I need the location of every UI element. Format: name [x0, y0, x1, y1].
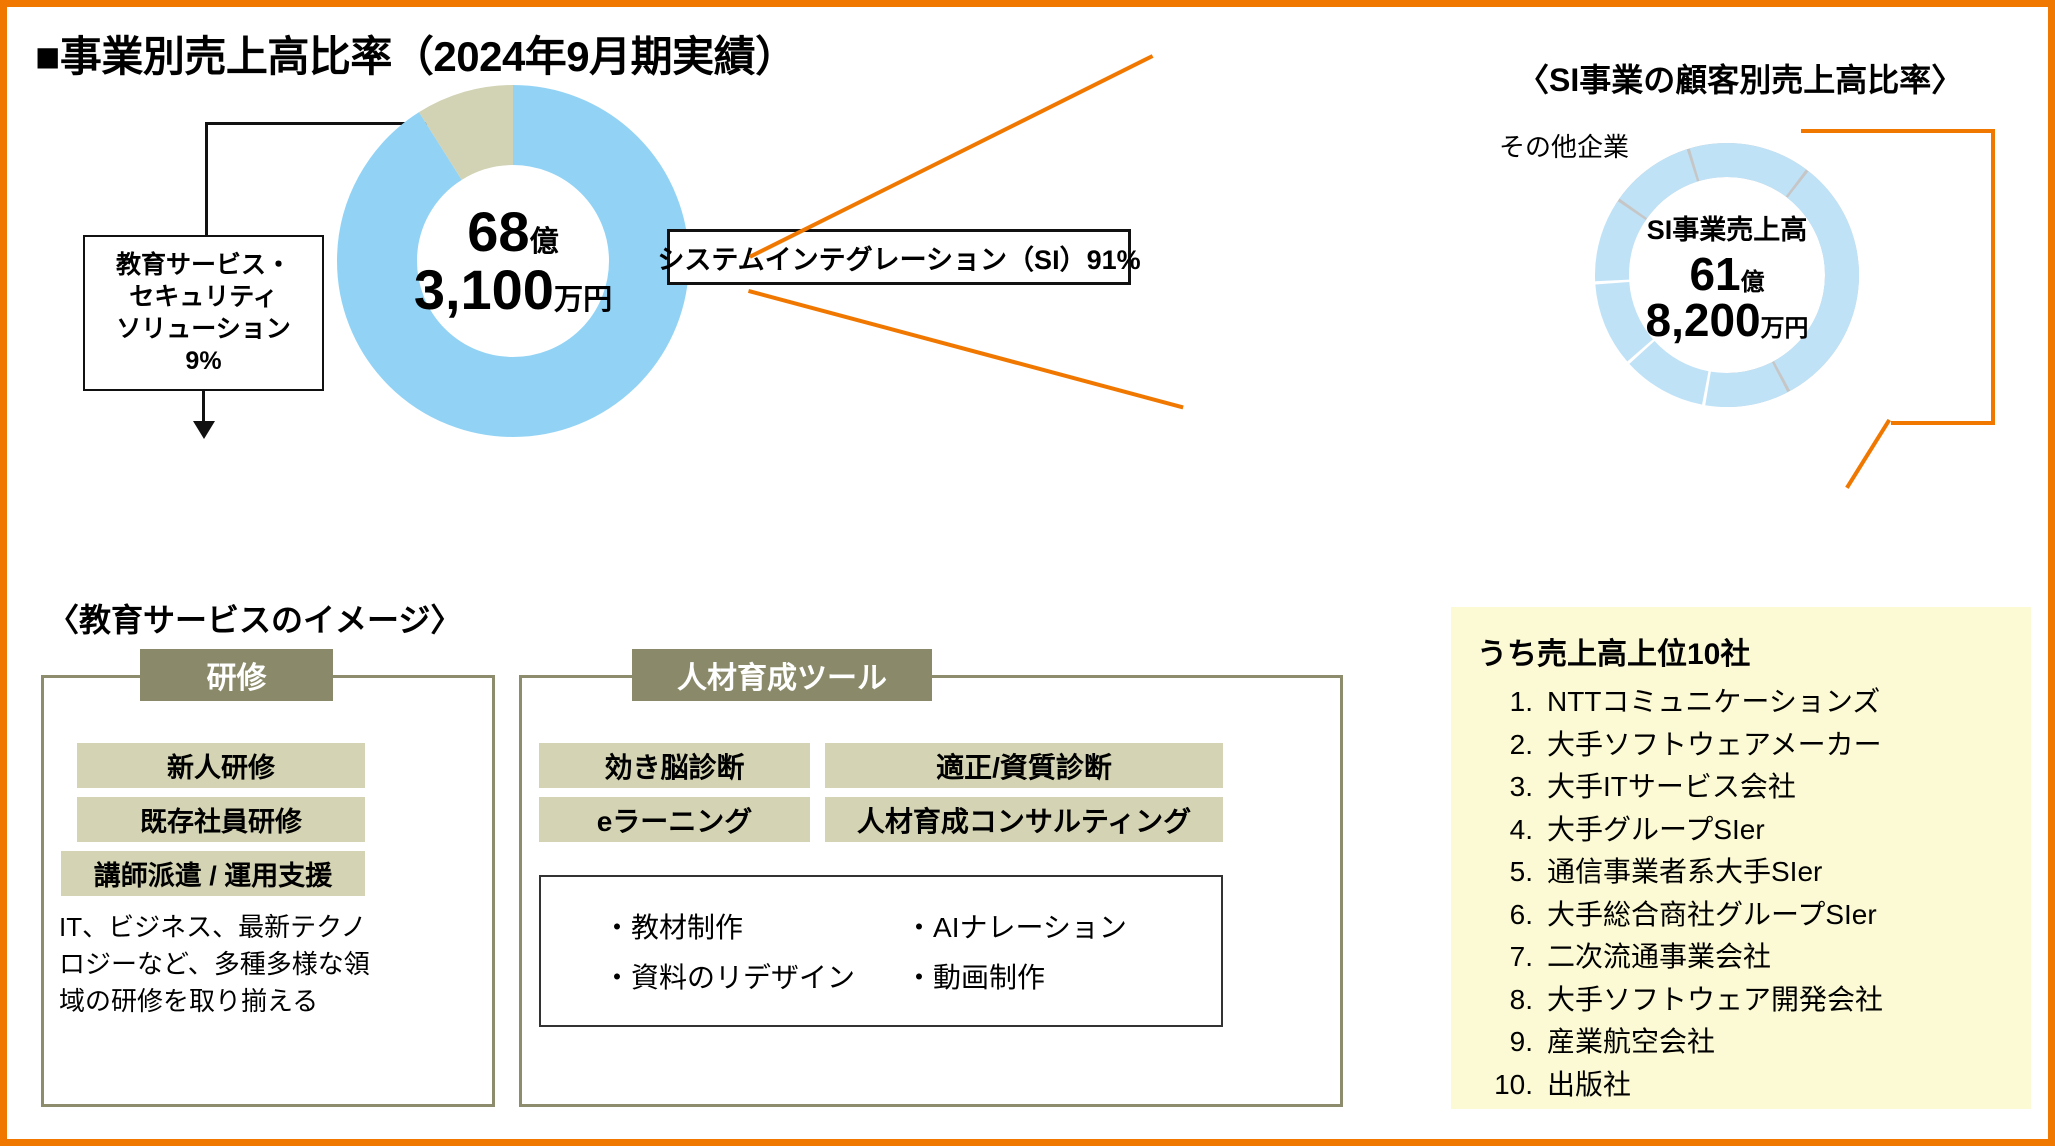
training-panel-header: 研修 [140, 649, 333, 701]
tool-chip-aptitude-diagnosis: 適正/資質診断 [825, 743, 1223, 788]
tool-bullets-right: ・AIナレーション ・動画制作 [905, 906, 1127, 996]
education-service-callout: 教育サービス・ セキュリティ ソリューション 9% [83, 235, 324, 391]
donut-left-svg [337, 85, 689, 437]
si-customer-ratio-donut-chart: SI事業売上高 61億 8,200万円 [1577, 125, 1877, 425]
tool-chip-elearning: eラーニング [539, 797, 810, 842]
training-chip-existing-employee: 既存社員研修 [77, 797, 365, 842]
list-item: 2.大手ソフトウェアメーカー [1477, 724, 2005, 767]
training-chip-new-employee: 新人研修 [77, 743, 365, 788]
list-item-rank: 9. [1477, 1021, 1533, 1064]
edu-arrow-head-icon [193, 421, 215, 439]
si-section-title: 〈SI事業の顧客別売上高比率〉 [1517, 55, 1963, 101]
tool-services-box: ・教材制作 ・資料のリデザイン ・AIナレーション ・動画制作 [539, 875, 1223, 1027]
tool-bullet-document-redesign: ・資料のリデザイン [603, 956, 855, 996]
list-item-label: 大手グループSIer [1547, 809, 1765, 852]
list-item-label: 大手ソフトウェアメーカー [1547, 724, 1882, 767]
list-item-rank: 2. [1477, 724, 1533, 767]
bracket-right [1991, 129, 1995, 425]
list-item: 7.二次流通事業会社 [1477, 936, 2005, 979]
connector-line-bottom [748, 289, 1184, 409]
bracket-diagonal [1845, 419, 1891, 489]
page-title: ■事業別売上高比率（2024年9月期実績） [35, 23, 797, 84]
list-item: 1.NTTコミュニケーションズ [1477, 681, 2005, 724]
list-item: 3.大手ITサービス会社 [1477, 766, 2005, 809]
tool-bullet-video-production: ・動画制作 [905, 956, 1127, 996]
bracket-bottom [1891, 421, 1995, 425]
business-ratio-donut-chart: 68億 3,100万円 [337, 85, 689, 437]
list-item-label: 大手総合商社グループSIer [1547, 894, 1877, 937]
list-item: 5.通信事業者系大手SIer [1477, 851, 2005, 894]
list-item-rank: 6. [1477, 894, 1533, 937]
tool-bullet-material-production: ・教材制作 [603, 906, 855, 946]
top10-title: うち売上高上位10社 [1477, 629, 2005, 673]
list-item-label: 通信事業者系大手SIer [1547, 851, 1822, 894]
list-item: 9.産業航空会社 [1477, 1021, 2005, 1064]
education-section-title: 〈教育サービスのイメージ〉 [47, 595, 462, 641]
tool-chip-hr-consulting: 人材育成コンサルティング [825, 797, 1223, 842]
list-item-label: 産業航空会社 [1547, 1021, 1715, 1064]
list-item-label: 大手ITサービス会社 [1547, 766, 1796, 809]
tool-chip-brain-diagnosis: 効き脳診断 [539, 743, 810, 788]
donut-slice-si [377, 125, 649, 397]
donut-right-svg [1577, 125, 1877, 425]
list-item-rank: 10. [1477, 1064, 1533, 1107]
list-item: 4.大手グループSIer [1477, 809, 2005, 852]
tool-bullet-ai-narration: ・AIナレーション [905, 906, 1127, 946]
list-item-rank: 1. [1477, 681, 1533, 724]
list-item: 10.出版社 [1477, 1064, 2005, 1107]
leader-line-vertical [205, 122, 208, 238]
list-item-rank: 3. [1477, 766, 1533, 809]
list-item-rank: 5. [1477, 851, 1533, 894]
tool-bullets-left: ・教材制作 ・資料のリデザイン [603, 906, 855, 996]
list-item-label: 二次流通事業会社 [1547, 936, 1771, 979]
training-chip-instructor-dispatch: 講師派遣 / 運用支援 [61, 851, 365, 896]
list-item: 6.大手総合商社グループSIer [1477, 894, 2005, 937]
list-item-label: 大手ソフトウェア開発会社 [1547, 979, 1883, 1022]
list-item-label: 出版社 [1547, 1064, 1631, 1107]
tool-panel-header: 人材育成ツール [632, 649, 932, 701]
connector-line-top [749, 54, 1154, 258]
training-panel-note: IT、ビジネス、最新テクノロジーなど、多種多様な領域の研修を取り揃える [59, 909, 379, 1020]
infographic-root: ■事業別売上高比率（2024年9月期実績） 68億 3,100万円 教育サービス… [0, 0, 2055, 1146]
bracket-top [1801, 129, 1995, 133]
top10-companies-box: うち売上高上位10社 1.NTTコミュニケーションズ 2.大手ソフトウェアメーカ… [1451, 607, 2031, 1109]
list-item-rank: 4. [1477, 809, 1533, 852]
list-item: 8.大手ソフトウェア開発会社 [1477, 979, 2005, 1022]
list-item-label: NTTコミュニケーションズ [1547, 681, 1880, 724]
list-item-rank: 8. [1477, 979, 1533, 1022]
si-share-label: システムインテグレーション（SI）91% [667, 229, 1131, 285]
top10-list: 1.NTTコミュニケーションズ 2.大手ソフトウェアメーカー 3.大手ITサービ… [1477, 681, 2005, 1106]
list-item-rank: 7. [1477, 936, 1533, 979]
